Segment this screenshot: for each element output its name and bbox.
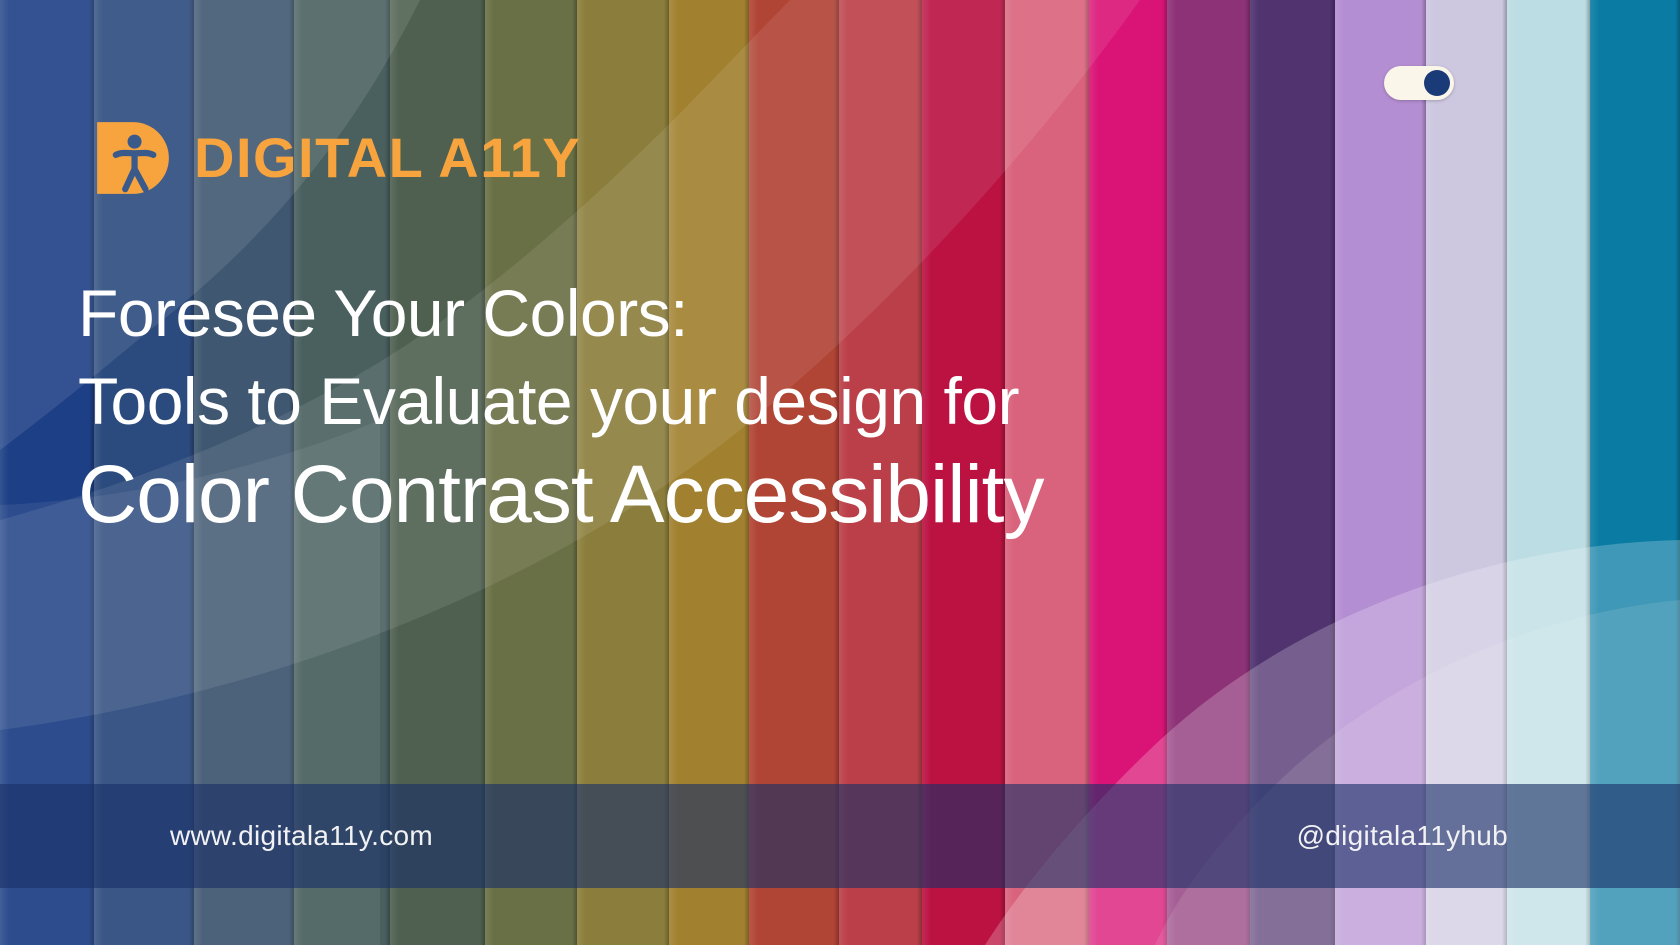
brand-logo[interactable]: DIGITAL A11Y bbox=[94, 119, 581, 197]
social-handle[interactable]: @digitala11yhub bbox=[1297, 820, 1508, 852]
headline-line-3: Color Contrast Accessibility bbox=[78, 454, 1598, 536]
banner-content: DIGITAL A11Y Foresee Your Colors: Tools … bbox=[0, 0, 1680, 945]
brand-wordmark: DIGITAL A11Y bbox=[194, 130, 581, 186]
headline-line-1: Foresee Your Colors: bbox=[78, 280, 1598, 346]
headline-line-2: Tools to Evaluate your design for bbox=[78, 368, 1598, 434]
headline-block: Foresee Your Colors: Tools to Evaluate y… bbox=[78, 280, 1598, 536]
website-url[interactable]: www.digitala11y.com bbox=[170, 820, 433, 852]
toggle-knob bbox=[1424, 70, 1450, 96]
accessibility-person-in-d-icon bbox=[94, 119, 172, 197]
promo-banner: DIGITAL A11Y Foresee Your Colors: Tools … bbox=[0, 0, 1680, 945]
dark-mode-toggle[interactable] bbox=[1384, 66, 1454, 100]
